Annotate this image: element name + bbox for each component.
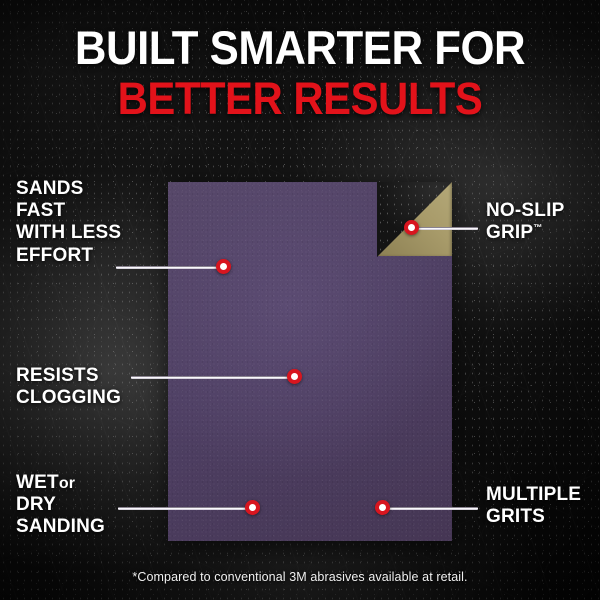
- callout-grip-word-grip: GRIP: [486, 222, 533, 243]
- callout-wet-line-2: DRY: [16, 494, 105, 516]
- callout-sands-line-2: FAST: [16, 200, 121, 222]
- callout-resists-line-1: RESISTS: [16, 365, 121, 387]
- headline: BUILT SMARTER FOR BETTER RESULTS: [0, 26, 600, 120]
- callout-multiple-grits: MULTIPLE GRITS: [486, 484, 581, 528]
- callout-no-slip-grip: NO-SLIP GRIP™: [486, 200, 564, 244]
- callout-sands-line-3: WITH LESS: [16, 222, 121, 244]
- callout-grits-line-2: GRITS: [486, 506, 581, 528]
- headline-line-2: BETTER RESULTS: [21, 78, 579, 119]
- leader-line-wet-dry: [118, 507, 253, 510]
- callout-wet-line-3: SANDING: [16, 516, 105, 538]
- callout-wet-or-dry-sanding: WETor DRY SANDING: [16, 472, 105, 539]
- marker-dot-sands: [216, 259, 231, 274]
- callout-sands-line-1: SANDS: [16, 178, 121, 200]
- leader-line-no-slip-grip: [411, 227, 478, 230]
- callout-resists-clogging: RESISTS CLOGGING: [16, 365, 121, 409]
- callout-grits-line-1: MULTIPLE: [486, 484, 581, 506]
- marker-dot-no-slip-grip: [404, 220, 419, 235]
- footnote: *Compared to conventional 3M abrasives a…: [0, 570, 600, 584]
- marker-dot-resists: [287, 369, 302, 384]
- callout-wet-word-or: or: [59, 475, 75, 492]
- poster: BUILT SMARTER FOR BETTER RESULTS SANDS F…: [0, 0, 600, 600]
- callout-wet-word-wet: WET: [16, 472, 59, 493]
- leader-line-sands: [116, 266, 224, 269]
- callout-grip-line-2: GRIP™: [486, 222, 564, 244]
- marker-dot-multiple-grits: [375, 500, 390, 515]
- callout-sands-fast: SANDS FAST WITH LESS EFFORT: [16, 178, 121, 267]
- leader-line-multiple-grits: [382, 507, 478, 510]
- headline-line-1: BUILT SMARTER FOR: [21, 26, 579, 69]
- callout-sands-line-4: EFFORT: [16, 245, 121, 267]
- callout-grip-line-1: NO-SLIP: [486, 200, 564, 222]
- trademark-symbol: ™: [533, 223, 542, 233]
- leader-line-resists: [131, 376, 295, 379]
- callout-resists-line-2: CLOGGING: [16, 387, 121, 409]
- callout-wet-line-1: WETor: [16, 472, 105, 494]
- marker-dot-wet-dry: [245, 500, 260, 515]
- sandpaper-sheet: [168, 182, 452, 541]
